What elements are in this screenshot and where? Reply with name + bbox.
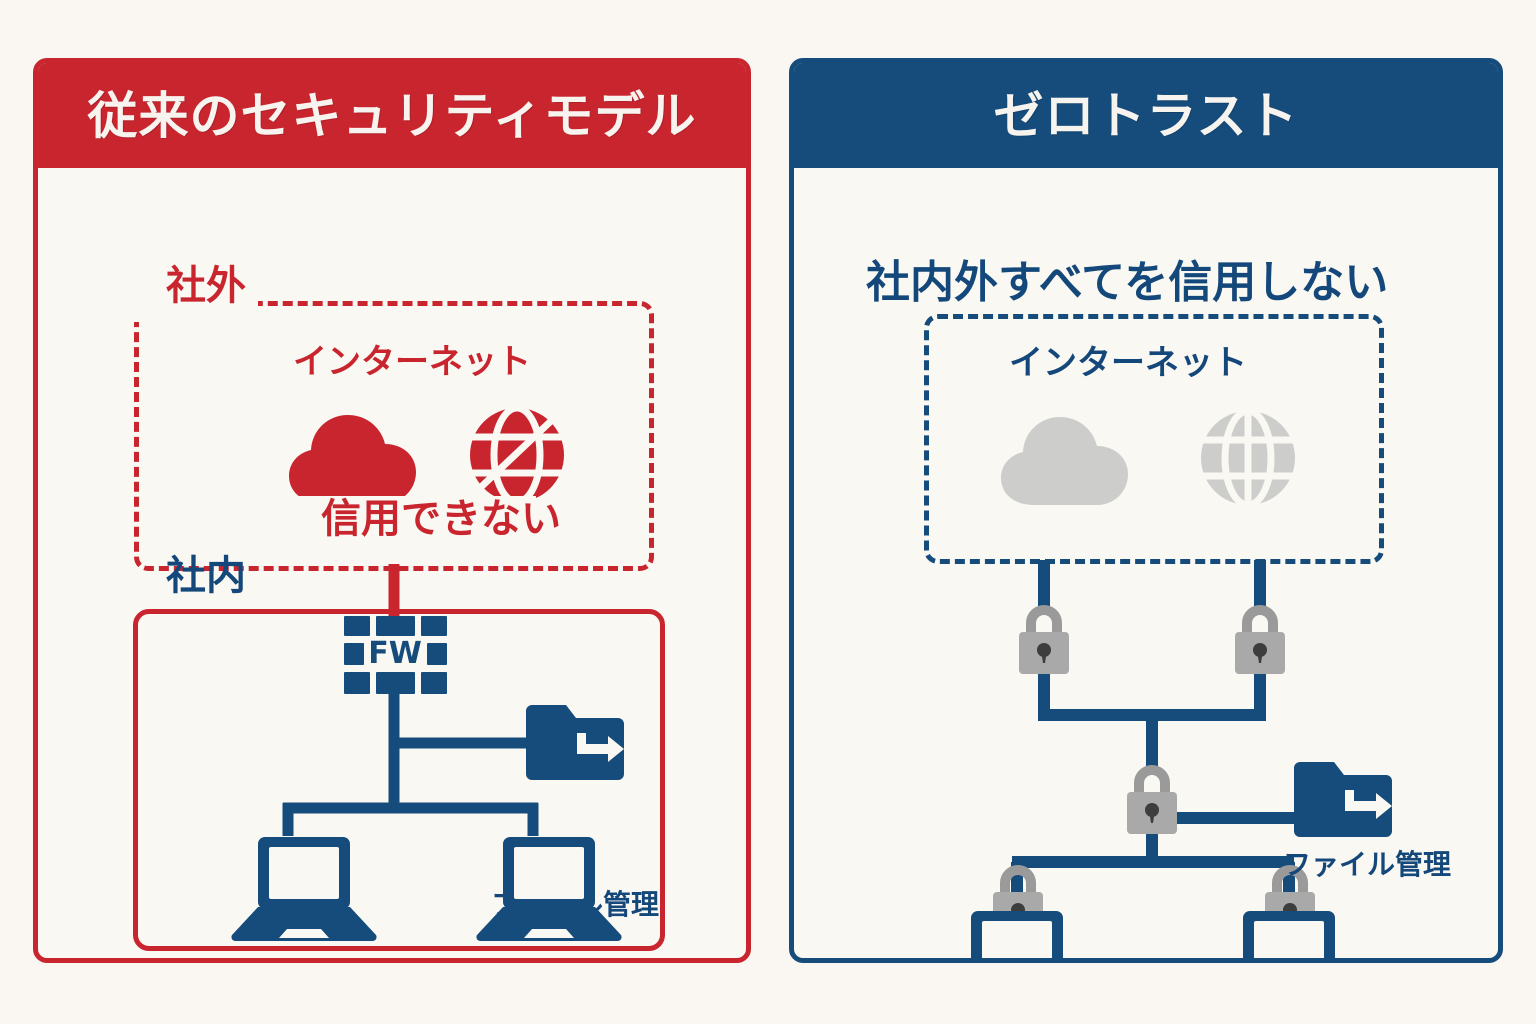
file-management-label-zerotrust: ファイル管理 xyxy=(1283,851,1451,879)
lock-icon xyxy=(1120,760,1184,838)
folder-icon xyxy=(1294,756,1398,842)
laptop-icon xyxy=(230,834,378,942)
panel-zero-trust: ゼロトラスト 社内外すべてを信用しない インターネット xyxy=(789,58,1503,963)
diagram-canvas: 従来のセキュリティモデル 社外 インターネット xyxy=(0,0,1536,1024)
panel-zero-trust-header: ゼロトラスト xyxy=(794,63,1498,168)
svg-text:FW: FW xyxy=(368,636,422,671)
firewall-icon: FW xyxy=(343,615,448,697)
legacy-connection-lines xyxy=(38,168,751,963)
panel-legacy-body: 社外 インターネット xyxy=(38,168,746,958)
laptop-icon xyxy=(1215,908,1363,963)
zero-trust-connection-lines xyxy=(794,168,1503,963)
laptop-icon xyxy=(475,834,623,942)
lock-icon xyxy=(1012,600,1076,678)
folder-icon xyxy=(526,699,630,785)
panel-legacy-security-model: 従来のセキュリティモデル 社外 インターネット xyxy=(33,58,751,963)
lock-icon xyxy=(1228,600,1292,678)
trusted-label-legacy: 信用できる xyxy=(278,961,477,963)
panel-zero-trust-title: ゼロトラスト xyxy=(994,91,1299,141)
panel-zero-trust-body: 社内外すべてを信用しない インターネット xyxy=(794,168,1498,958)
panel-legacy-title: 従来のセキュリティモデル xyxy=(88,91,697,141)
laptop-icon xyxy=(943,908,1091,963)
panel-legacy-header: 従来のセキュリティモデル xyxy=(38,63,746,168)
